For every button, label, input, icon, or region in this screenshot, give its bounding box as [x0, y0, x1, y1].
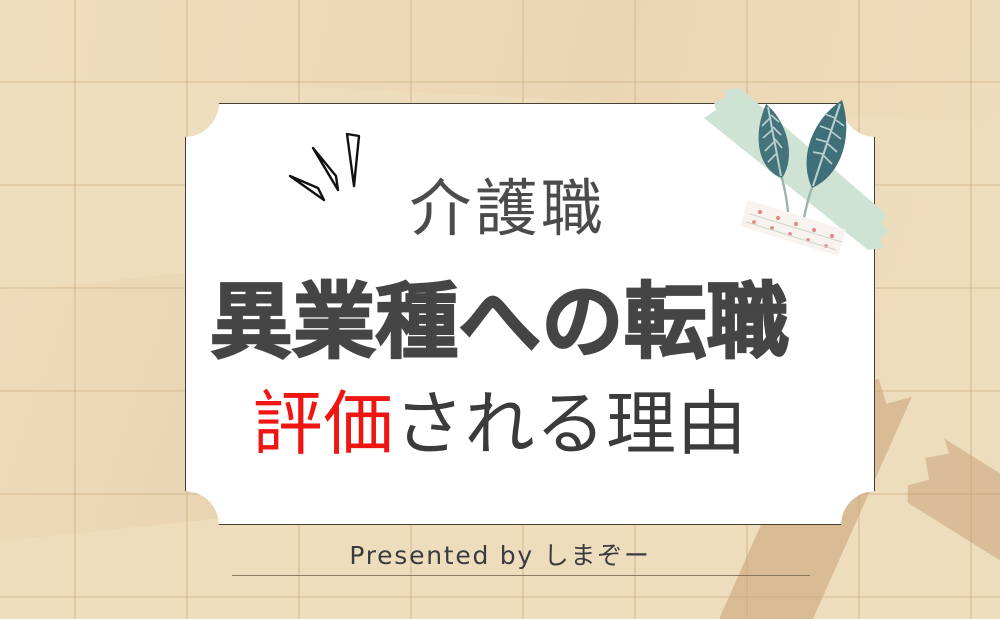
thumbnail-canvas: 介護職 異業種への転職 評価される理由 Presented by しまぞー: [0, 0, 1000, 619]
headline-sub: 評価される理由: [0, 368, 1000, 469]
headline-sub-accent: 評価: [253, 383, 394, 465]
credit-text: Presented by しまぞー: [0, 536, 1000, 572]
footer-divider: [232, 575, 810, 576]
headline-main: 異業種への転職: [0, 255, 1000, 374]
headline-eyebrow: 介護職: [8, 158, 1000, 248]
headline-sub-rest: される理由: [394, 383, 748, 465]
